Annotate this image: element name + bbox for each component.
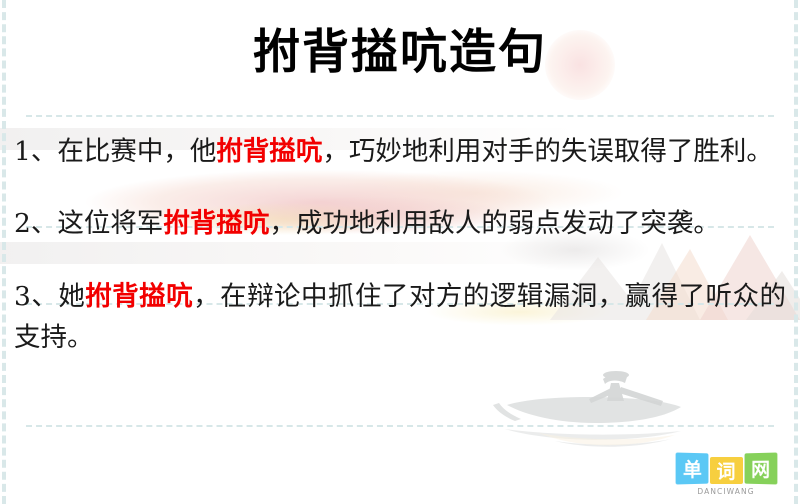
sentence-index: 1、 bbox=[14, 136, 57, 167]
brand-subtitle: DANCIWANG bbox=[670, 487, 782, 496]
keyword-idiom: 拊背搤吭 bbox=[216, 136, 322, 167]
page-root: 拊背搤吭造句 1、在比赛中，他拊背搤吭，巧妙地利用对手的失误取得了胜利。 2、这… bbox=[0, 0, 800, 504]
divider-footer bbox=[26, 425, 774, 427]
brand-tile-2: 词 bbox=[710, 457, 743, 484]
brand-logo-tiles: 单 词 网 bbox=[670, 453, 782, 484]
page-title: 拊背搤吭造句 bbox=[0, 22, 800, 84]
sentence-index: 2、 bbox=[14, 208, 57, 239]
sentence-prefix: 在比赛中，他 bbox=[57, 136, 216, 167]
list-item: 2、这位将军拊背搤吭，成功地利用敌人的弱点发动了突袭。 bbox=[14, 203, 786, 244]
keyword-idiom: 拊背搤吭 bbox=[85, 281, 193, 312]
brand-tile-1: 单 bbox=[675, 453, 708, 485]
sentence-suffix: ，巧妙地利用对手的失误取得了胜利。 bbox=[322, 136, 773, 167]
sentence-prefix: 这位将军 bbox=[57, 208, 163, 239]
sentence-suffix: ，成功地利用敌人的弱点发动了突袭。 bbox=[269, 208, 720, 239]
watermark-boat-icon bbox=[485, 357, 700, 452]
brand-tile-3: 网 bbox=[744, 453, 777, 485]
list-item: 3、她拊背搤吭，在辩论中抓住了对方的逻辑漏洞，赢得了听众的支持。 bbox=[14, 276, 786, 358]
sentence-prefix: 她 bbox=[58, 281, 85, 312]
brand-logo[interactable]: 单 词 网 DANCIWANG bbox=[670, 453, 782, 496]
divider-above-sentence-1 bbox=[26, 115, 774, 117]
sentence-list: 1、在比赛中，他拊背搤吭，巧妙地利用对手的失误取得了胜利。 2、这位将军拊背搤吭… bbox=[14, 131, 786, 358]
keyword-idiom: 拊背搤吭 bbox=[163, 208, 269, 239]
sentence-index: 3、 bbox=[14, 281, 58, 312]
list-item: 1、在比赛中，他拊背搤吭，巧妙地利用对手的失误取得了胜利。 bbox=[14, 131, 786, 172]
